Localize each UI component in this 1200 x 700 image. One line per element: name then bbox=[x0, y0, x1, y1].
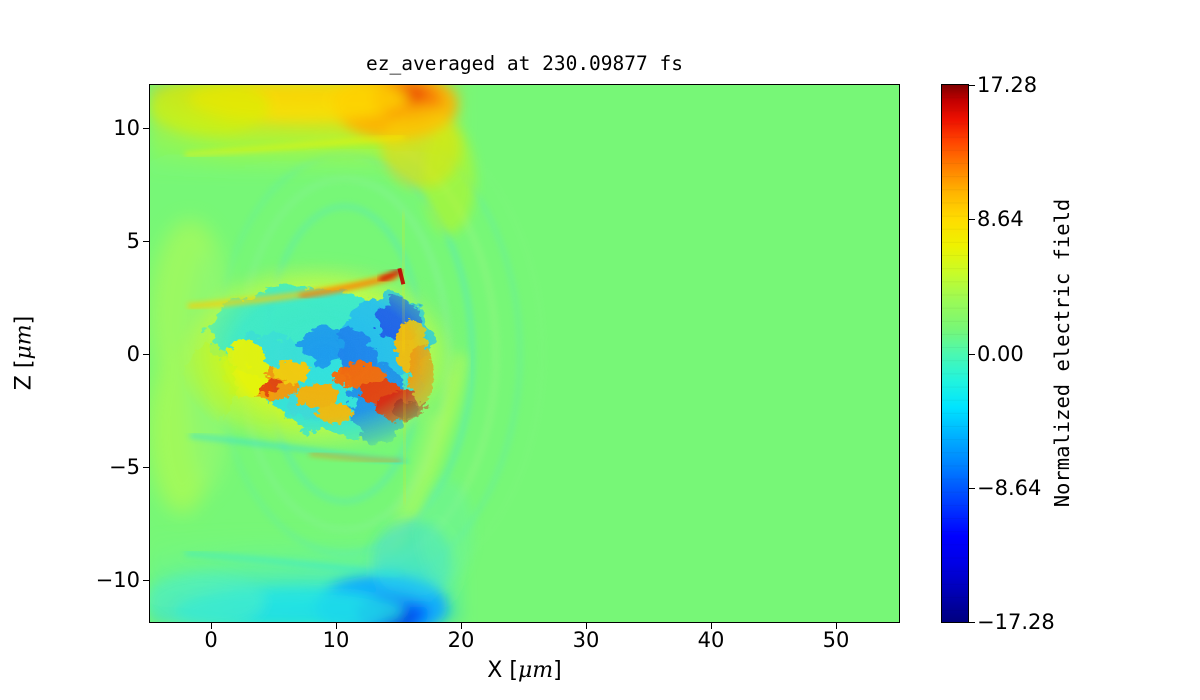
xtick-label-50: 50 bbox=[823, 628, 850, 652]
xtick-label-10: 10 bbox=[323, 628, 350, 652]
cbar-tick-label-max: 17.28 bbox=[977, 73, 1037, 97]
xtick-label-30: 30 bbox=[573, 628, 600, 652]
colorbar-gradient bbox=[942, 85, 968, 622]
cbar-tick-mark bbox=[969, 85, 975, 86]
x-axis-label-close: ] bbox=[553, 658, 562, 683]
x-axis-label: X [μm] bbox=[149, 658, 900, 683]
xtick-label-40: 40 bbox=[698, 628, 725, 652]
ytick-mark bbox=[143, 467, 149, 468]
y-axis-label-text: Z [ bbox=[12, 360, 37, 391]
ytick-mark bbox=[143, 241, 149, 242]
plot-title: ez_averaged at 230.09877 fs bbox=[149, 52, 900, 75]
ytick-label-m5: −5 bbox=[109, 455, 140, 479]
figure-canvas: ez_averaged at 230.09877 fs bbox=[0, 0, 1200, 700]
ytick-mark bbox=[143, 128, 149, 129]
colorbar[interactable] bbox=[941, 84, 969, 623]
ytick-label-5: 5 bbox=[127, 229, 140, 253]
cbar-tick-label-min: −17.28 bbox=[977, 610, 1055, 634]
xtick-label-20: 20 bbox=[448, 628, 475, 652]
y-axis-label: Z [μm] bbox=[12, 316, 37, 390]
ytick-label-0: 0 bbox=[127, 342, 140, 366]
cbar-tick-mark bbox=[969, 488, 975, 489]
cbar-tick-label-lo: −8.64 bbox=[977, 476, 1041, 500]
y-axis-label-close: ] bbox=[12, 316, 37, 325]
heatmap-axes[interactable] bbox=[149, 84, 900, 623]
cbar-tick-mark bbox=[969, 622, 975, 623]
colorbar-label: Normalized electric field bbox=[1050, 199, 1074, 508]
x-axis-label-unit: μm bbox=[518, 658, 553, 683]
cbar-tick-label-hi: 8.64 bbox=[977, 207, 1024, 231]
cbar-tick-mark bbox=[969, 219, 975, 220]
x-axis-label-text: X [ bbox=[487, 658, 518, 683]
ytick-label-m10: −10 bbox=[96, 568, 140, 592]
ytick-label-10: 10 bbox=[113, 116, 140, 140]
cbar-tick-label-zero: 0.00 bbox=[977, 342, 1024, 366]
field-image bbox=[150, 85, 899, 622]
xtick-label-0: 0 bbox=[204, 628, 217, 652]
ytick-mark bbox=[143, 354, 149, 355]
cbar-tick-mark bbox=[969, 354, 975, 355]
y-axis-label-unit: μm bbox=[12, 324, 37, 359]
ytick-mark bbox=[143, 580, 149, 581]
